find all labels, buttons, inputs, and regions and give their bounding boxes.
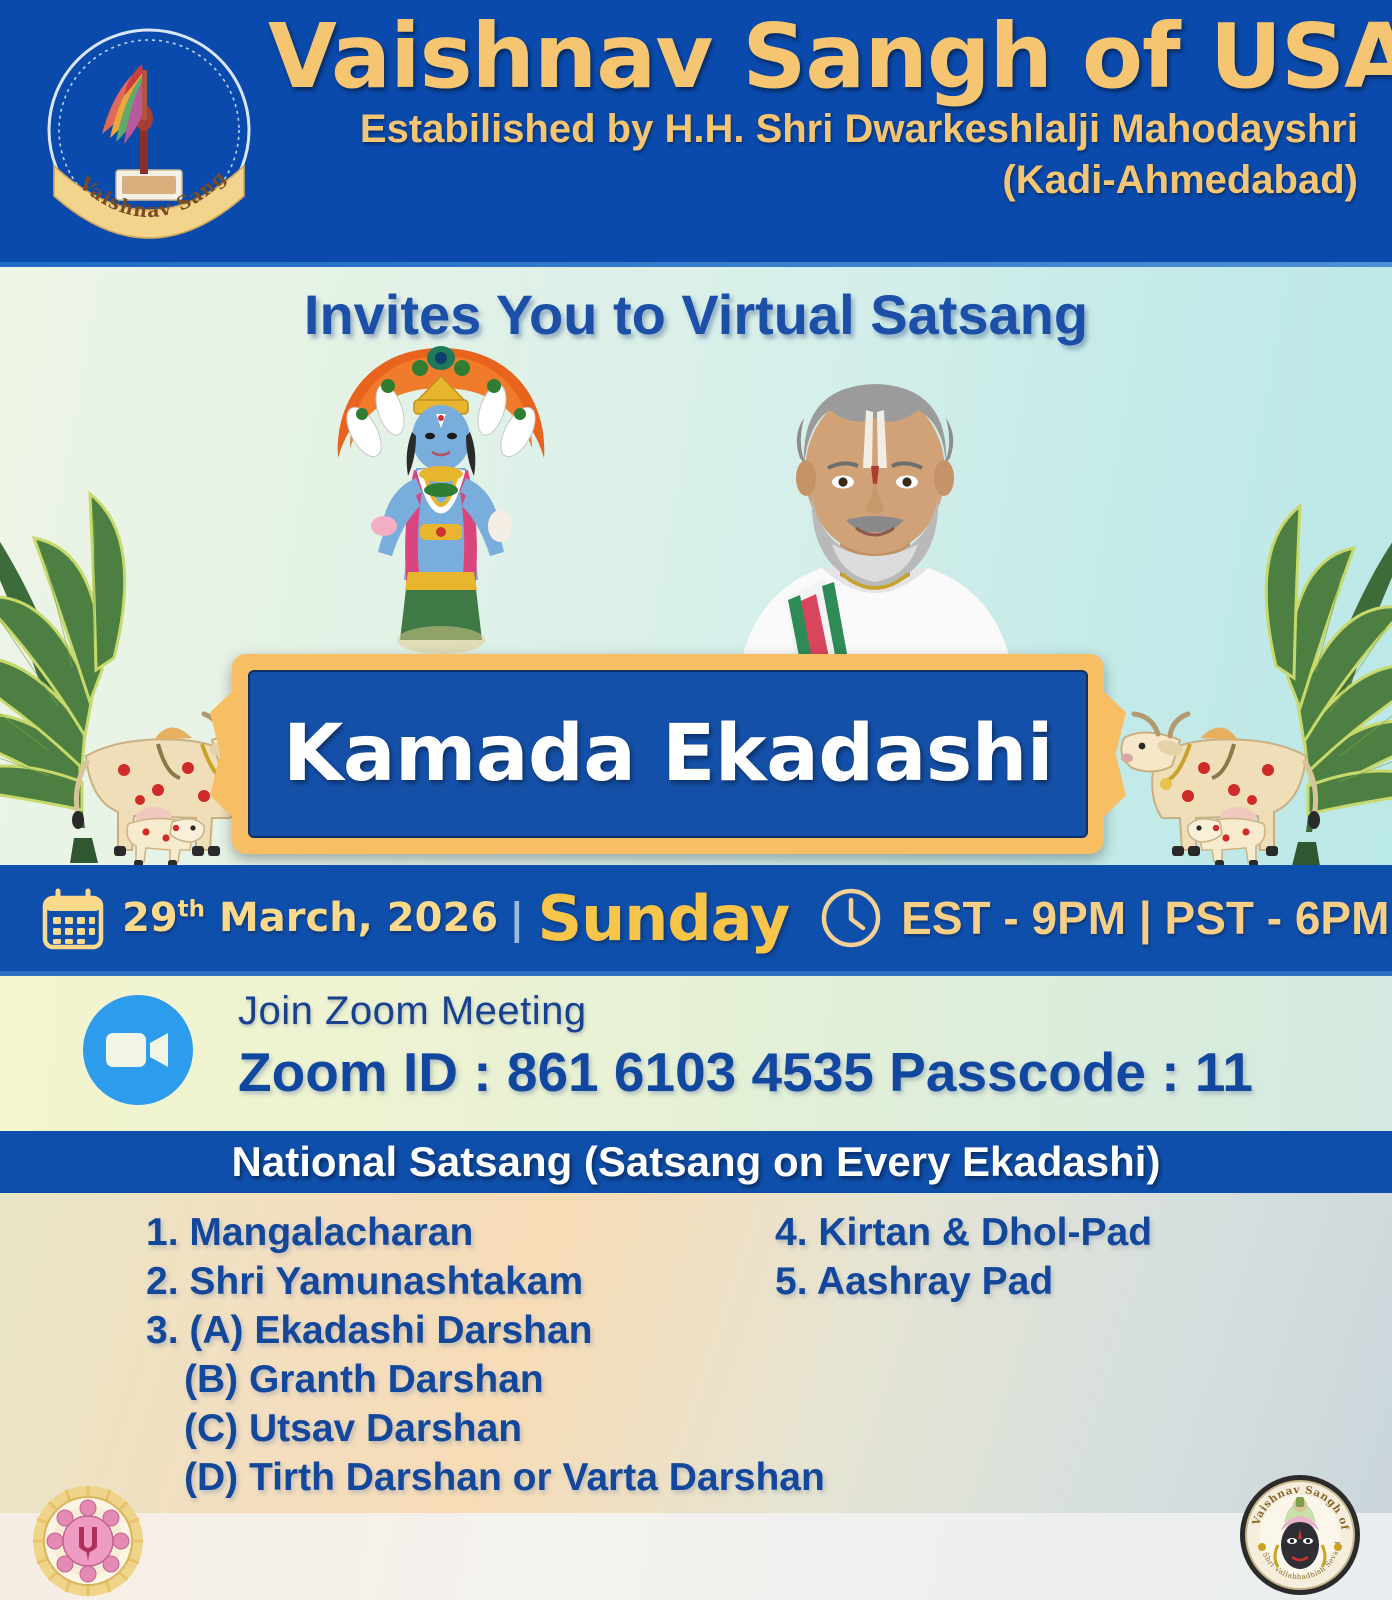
vaishnav-sangh-usa-seal-icon: Vaishnav Sangh of USA: [36, 18, 262, 250]
event-title-plaque: Kamada Ekadashi: [232, 654, 1104, 854]
hero-scene: Invites You to Virtual Satsang: [0, 262, 1392, 865]
national-satsang-title: National Satsang (Satsang on Every Ekada…: [232, 1138, 1161, 1186]
header-text-block: Vaishnav Sangh of USA Estabilished by H.…: [268, 8, 1362, 206]
clock-icon: [819, 886, 883, 950]
program-list-section: 1. Mangalacharan 2. Shri Yamunashtakam 3…: [0, 1193, 1392, 1513]
list-item: 2. Shri Yamunashtakam: [146, 1258, 825, 1307]
pushti-seal-logo-icon: [30, 1483, 146, 1599]
event-flyer: Vaishnav Sangh of USA Vaishnav Sangh of …: [0, 0, 1392, 1600]
date-time-band: 29th March, 2026 | Sunday EST - 9PM | PS…: [0, 865, 1392, 971]
footer-bar: Vaishnav Sangh of Virginia Inc Shri Vall…: [0, 1513, 1392, 1600]
national-satsang-bar: National Satsang (Satsang on Every Ekada…: [0, 1131, 1392, 1193]
event-title: Kamada Ekadashi: [283, 709, 1053, 799]
program-column-left: 1. Mangalacharan 2. Shri Yamunashtakam 3…: [146, 1209, 825, 1503]
list-item: 1. Mangalacharan: [146, 1209, 825, 1258]
list-item: 3. (A) Ekadashi Darshan: [146, 1307, 825, 1356]
cow-with-calf-right-icon: [1110, 682, 1330, 865]
calendar-icon: [42, 888, 104, 950]
list-item: (C) Utsav Darshan: [146, 1405, 825, 1454]
zoom-text-block: Join Zoom Meeting Zoom ID : 861 6103 453…: [238, 989, 1253, 1104]
list-item: (B) Granth Darshan: [146, 1356, 825, 1405]
zoom-video-icon[interactable]: [72, 995, 204, 1105]
header-banner: Vaishnav Sangh of USA Vaishnav Sangh of …: [0, 0, 1392, 262]
zoom-meeting-section: Join Zoom Meeting Zoom ID : 861 6103 453…: [0, 971, 1392, 1131]
event-day: Sunday: [537, 882, 789, 955]
zoom-join-label: Join Zoom Meeting: [238, 989, 1253, 1034]
list-item: 4. Kirtan & Dhol-Pad: [775, 1209, 1152, 1258]
event-date: 29th March, 2026: [122, 895, 498, 941]
org-title: Vaishnav Sangh of USA: [268, 8, 1362, 104]
zoom-section-divider: [0, 971, 1392, 976]
vishnu-deity-image: [316, 340, 566, 660]
program-column-right: 4. Kirtan & Dhol-Pad 5. Aashray Pad: [775, 1209, 1152, 1307]
event-title-plaque-inner: Kamada Ekadashi: [248, 670, 1088, 838]
zoom-meeting-line[interactable]: Zoom ID : 861 6103 4535 Passcode : 11: [238, 1040, 1253, 1104]
invitation-line: Invites You to Virtual Satsang: [0, 282, 1392, 347]
header-divider: [0, 262, 1392, 267]
event-times: EST - 9PM | PST - 6PM: [901, 891, 1389, 945]
vaishnav-sangh-virginia-seal-icon: Vaishnav Sangh of Virginia Inc Shri Vall…: [1238, 1473, 1362, 1597]
guru-portrait-image: [700, 362, 1050, 692]
org-established-line: Estabilished by H.H. Shri Dwarkeshlalji …: [268, 104, 1362, 154]
date-separator: |: [509, 894, 524, 943]
list-item: (D) Tirth Darshan or Varta Darshan: [146, 1454, 825, 1503]
org-location-line: (Kadi-Ahmedabad): [268, 154, 1362, 206]
list-item: 5. Aashray Pad: [775, 1258, 1152, 1307]
